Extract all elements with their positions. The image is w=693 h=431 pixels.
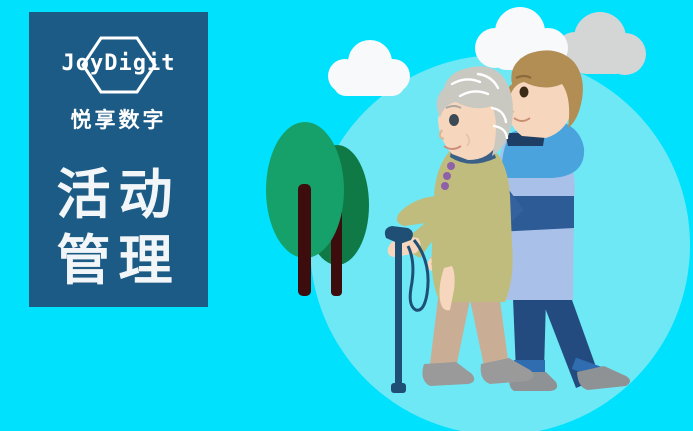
elderly-button (441, 182, 449, 190)
elderly-eye (449, 114, 459, 126)
page-title-line-1: 活动 (29, 162, 208, 228)
elderly-button (447, 162, 455, 170)
elderly-button (443, 172, 451, 180)
cane-shaft (395, 240, 402, 385)
page-title: 活动 管理 (29, 162, 208, 294)
brand-panel: JoyDigit 悦享数字 活动 管理 (29, 12, 208, 307)
young-man-eye (520, 87, 529, 98)
logo-block: JoyDigit (49, 36, 189, 94)
poster-canvas: JoyDigit 悦享数字 活动 管理 (0, 0, 693, 431)
logo-wordmark: JoyDigit (49, 50, 189, 78)
cane-tip (391, 383, 406, 393)
logo-subtitle-cn: 悦享数字 (29, 104, 208, 134)
page-title-line-2: 管理 (29, 228, 208, 294)
